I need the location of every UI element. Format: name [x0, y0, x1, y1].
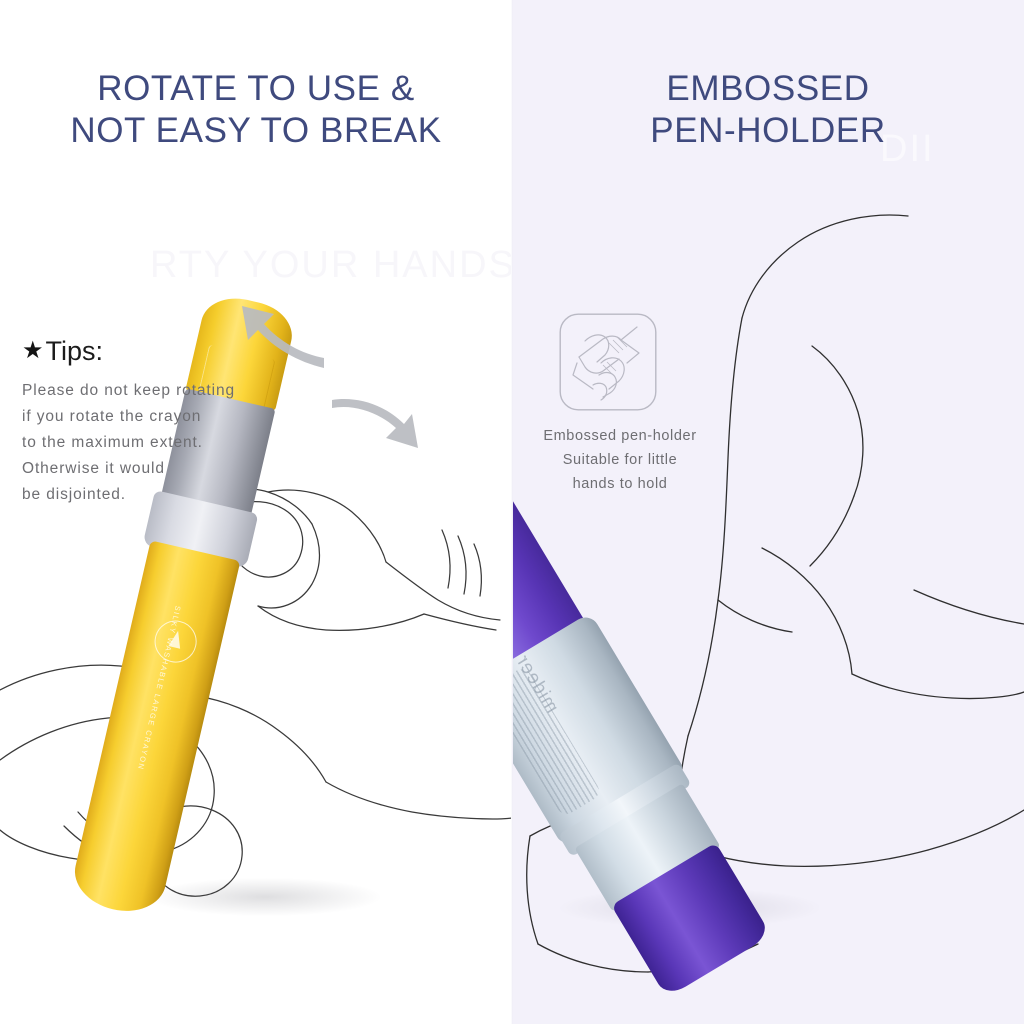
tips-body-text: Please do not keep rotating if you rotat…	[22, 378, 292, 508]
infographic-page: RTY YOUR HANDS ROTATE TO USE & NOT EASY …	[0, 0, 1024, 1024]
left-ghost-watermark: RTY YOUR HANDS	[150, 244, 512, 287]
yellow-crayon-shadow	[150, 878, 380, 916]
panel-divider	[511, 0, 513, 1024]
hand-gripping-pen-icon	[559, 313, 657, 411]
tips-title-label: Tips:	[46, 336, 104, 366]
rotate-arrow-lower-icon	[328, 394, 420, 464]
left-feature-panel: RTY YOUR HANDS ROTATE TO USE & NOT EASY …	[0, 0, 512, 1024]
left-panel-heading: ROTATE TO USE & NOT EASY TO BREAK	[0, 68, 512, 152]
right-feature-panel: DII EMBOSSED PEN-HOLDER	[512, 0, 1024, 1024]
star-icon: ★	[22, 339, 44, 363]
tips-title-row: ★ Tips:	[22, 336, 292, 366]
right-panel-heading: EMBOSSED PEN-HOLDER	[512, 68, 1024, 152]
feature-caption: Embossed pen-holder Suitable for little …	[520, 424, 720, 496]
tips-block: ★ Tips: Please do not keep rotating if y…	[22, 336, 292, 508]
